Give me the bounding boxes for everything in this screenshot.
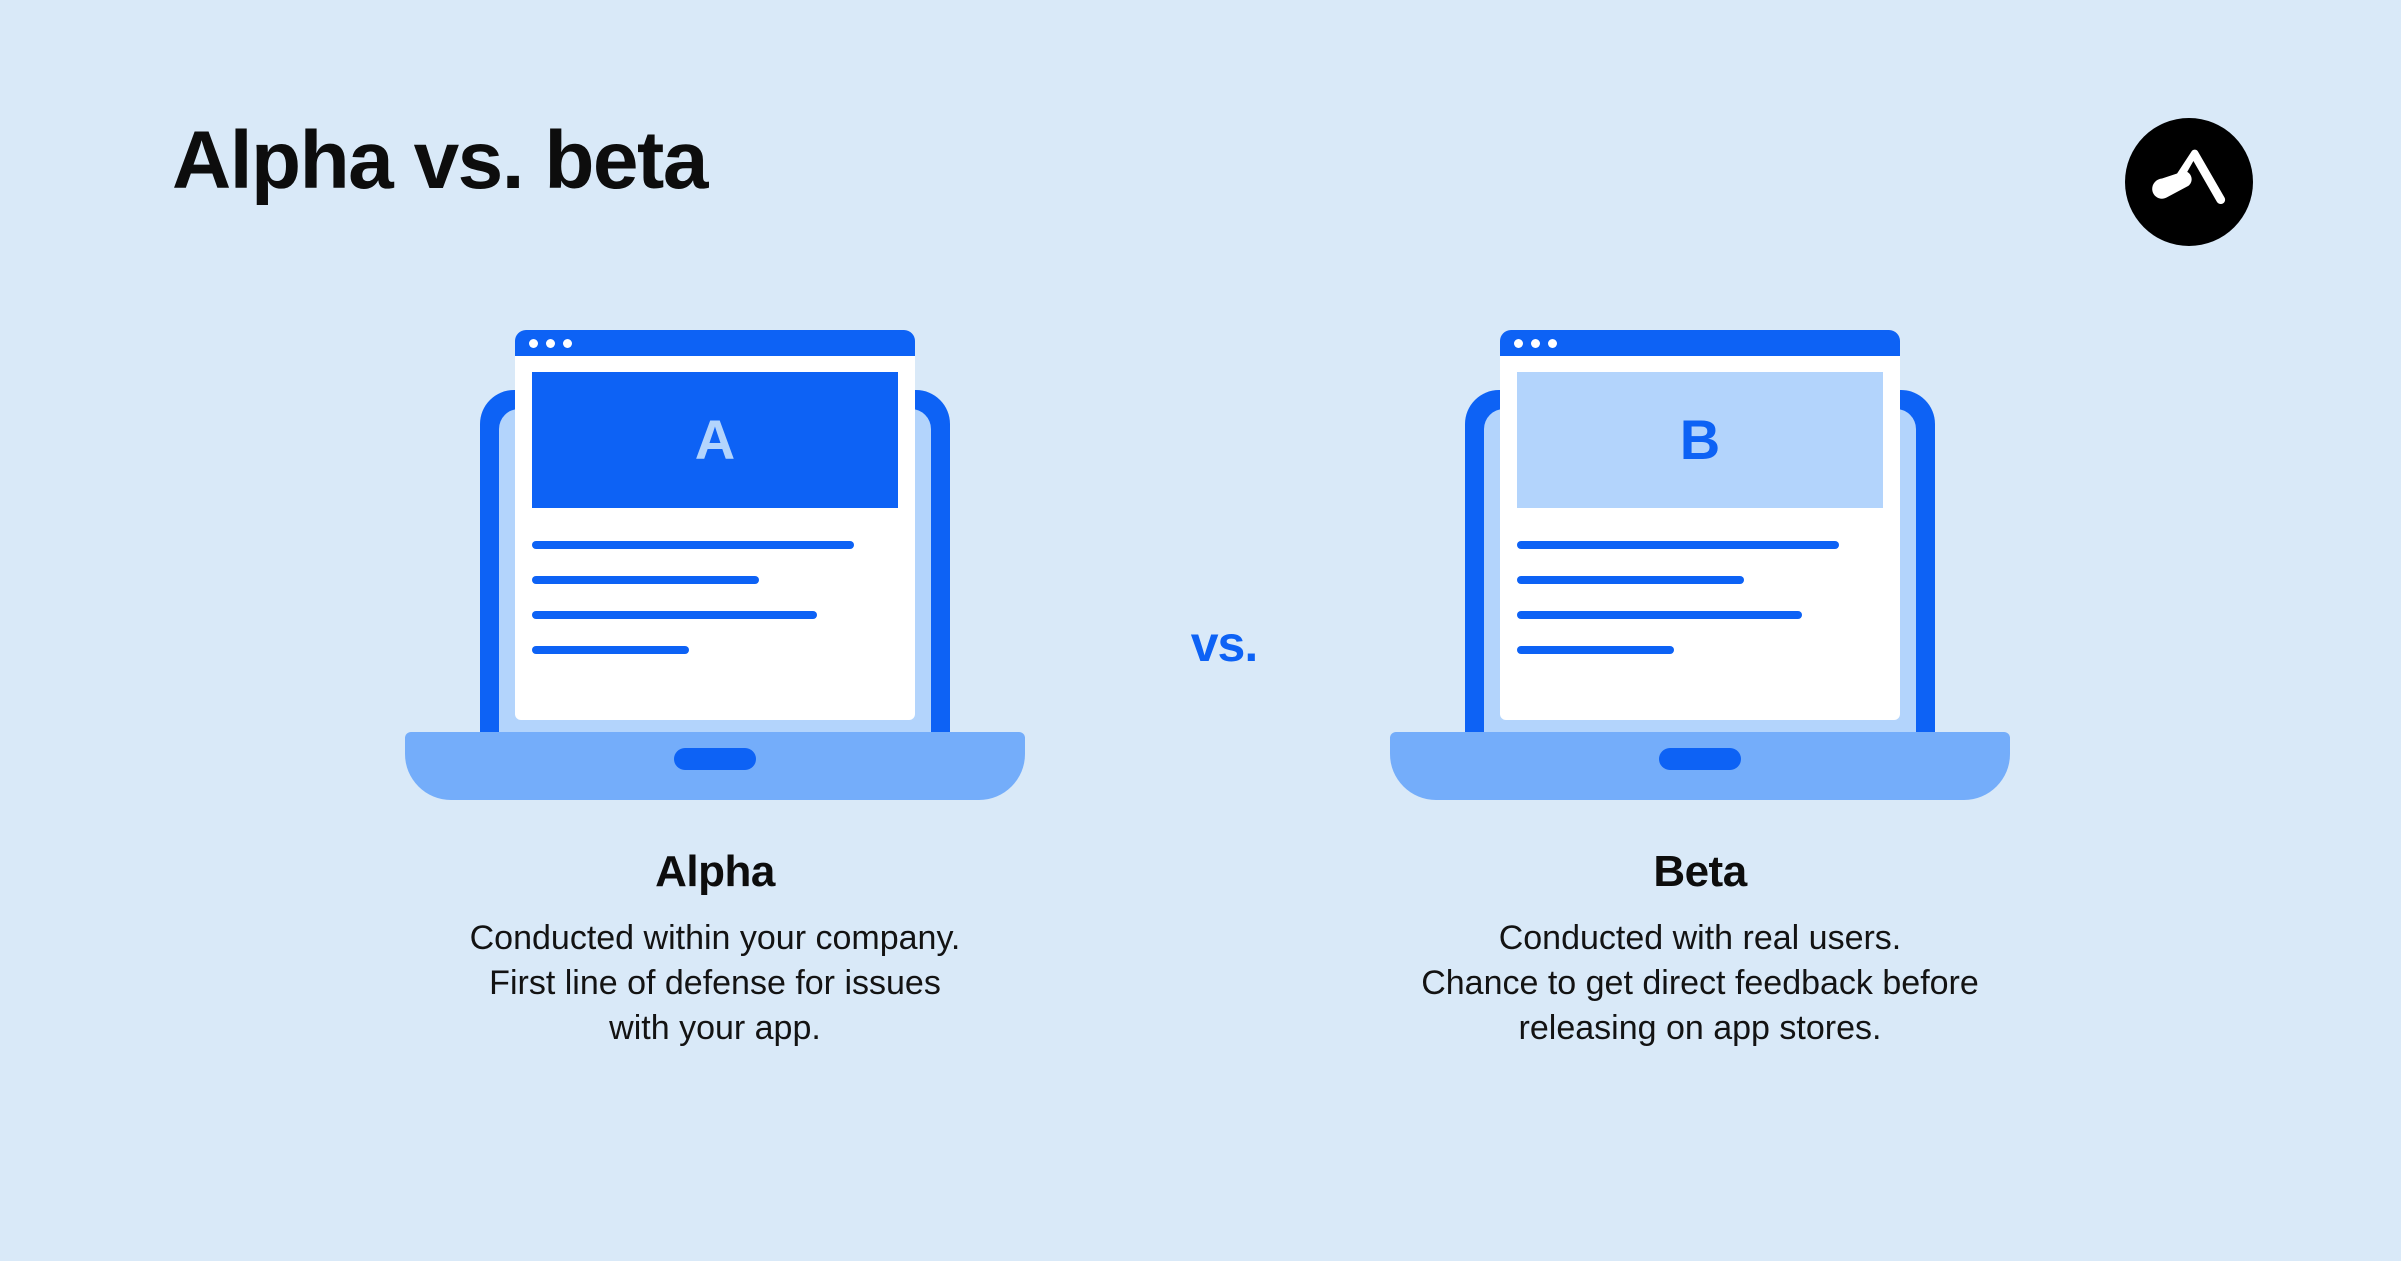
placeholder-line [1517, 611, 1802, 619]
placeholder-line [532, 541, 854, 549]
browser-window-alpha[interactable]: A [515, 330, 915, 720]
window-dot-close-icon[interactable] [529, 339, 538, 348]
window-dot-maximize-icon[interactable] [563, 339, 572, 348]
browser-title-bar [1500, 330, 1900, 356]
hero-letter: B [1680, 412, 1720, 468]
caption-body: Conducted within your company. First lin… [225, 916, 1205, 1052]
hero-banner-beta: B [1517, 372, 1883, 508]
window-dot-minimize-icon[interactable] [1531, 339, 1540, 348]
browser-content: A [515, 356, 915, 654]
laptop-illustration-alpha: A [405, 330, 1025, 800]
laptop-trackpad-notch [674, 748, 756, 770]
window-dot-minimize-icon[interactable] [546, 339, 555, 348]
placeholder-line [1517, 541, 1839, 549]
laptop-trackpad-notch [1659, 748, 1741, 770]
column-alpha: A Alpha Conducted within your company. F… [225, 330, 1205, 1190]
caption-body: Conducted with real users. Chance to get… [1210, 916, 2190, 1052]
column-beta: B Beta Conducted with real users. Chance… [1210, 330, 2190, 1190]
browser-content: B [1500, 356, 1900, 654]
comparison-section: A Alpha Conducted within your company. F… [0, 330, 2401, 1190]
placeholder-line [1517, 646, 1674, 654]
laptop-base [405, 732, 1025, 800]
placeholder-line [1517, 576, 1744, 584]
header: Alpha vs. beta [0, 0, 2401, 300]
placeholder-text-lines [532, 508, 898, 654]
caption-title: Beta [1210, 850, 2190, 894]
caption-beta: Beta Conducted with real users. Chance t… [1210, 850, 2190, 1052]
hero-banner-alpha: A [532, 372, 898, 508]
logo-mark-icon [2125, 118, 2253, 246]
window-dot-maximize-icon[interactable] [1548, 339, 1557, 348]
placeholder-line [532, 611, 817, 619]
caption-title: Alpha [225, 850, 1205, 894]
laptop-illustration-beta: B [1390, 330, 2010, 800]
hero-letter: A [695, 412, 735, 468]
placeholder-line [532, 646, 689, 654]
placeholder-text-lines [1517, 508, 1883, 654]
browser-title-bar [515, 330, 915, 356]
window-dot-close-icon[interactable] [1514, 339, 1523, 348]
browser-window-beta[interactable]: B [1500, 330, 1900, 720]
page-title: Alpha vs. beta [172, 120, 707, 202]
laptop-base [1390, 732, 2010, 800]
placeholder-line [532, 576, 759, 584]
caption-alpha: Alpha Conducted within your company. Fir… [225, 850, 1205, 1052]
appfigures-logo-icon[interactable] [2125, 118, 2253, 246]
